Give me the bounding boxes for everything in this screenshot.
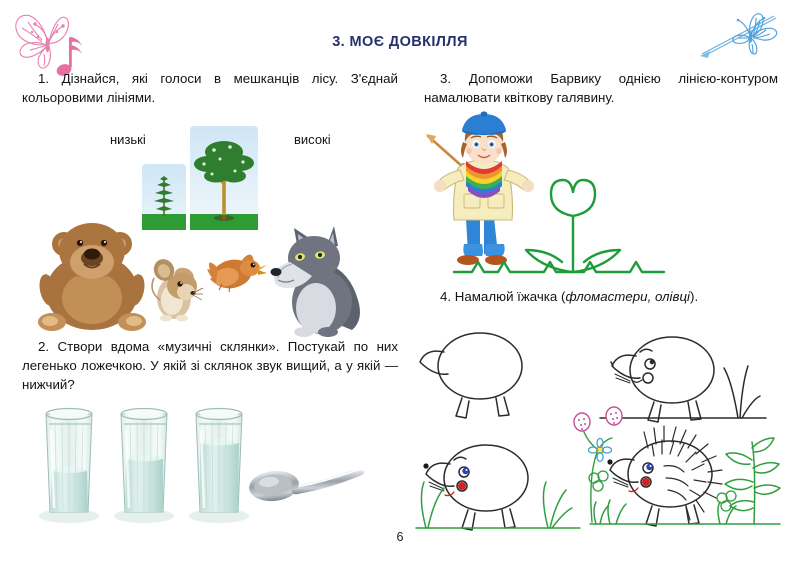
bird-icon [207, 254, 267, 292]
task-2-body: Створи вдома «музичні склянки». Постукай… [22, 339, 398, 392]
musical-glasses-illustration [36, 400, 376, 528]
forest-animals-illustration [30, 218, 380, 336]
glass-high-water [189, 409, 249, 524]
teaspoon-icon [248, 468, 365, 503]
task-1-body: Дізнайся, які голоси в мешканців лісу. З… [22, 71, 398, 105]
hedgehog-step-2 [600, 337, 766, 422]
task-4-number: 4. [440, 289, 451, 304]
hedgehog-step-1 [420, 333, 522, 418]
task-1-text: 1. Дізнайся, які голоси в мешканців лісу… [22, 70, 398, 108]
hedgehog-steps-illustration [414, 318, 786, 540]
page-number: 6 [0, 530, 800, 544]
barvyk-illustration [424, 112, 684, 280]
page-title: 3. МОЄ ДОВКІЛЛЯ [0, 34, 800, 50]
task-2-number: 2. [38, 339, 49, 354]
mouse-icon [150, 256, 203, 322]
bear-icon [37, 223, 147, 331]
task-3-number: 3. [440, 71, 451, 86]
wolf-icon [271, 226, 361, 337]
task-3-text: 3. Допоможи Барвику однією лінією-контур… [424, 70, 778, 108]
glass-low-water [39, 409, 99, 524]
workbook-page: 3. МОЄ ДОВКІЛЛЯ 1. Дізнайся, які голоси … [0, 0, 800, 562]
hedgehog-step-3 [426, 445, 528, 530]
task-4-body: Намалюй їжачка ( [455, 289, 566, 304]
hedgehog-step-4 [610, 426, 722, 526]
task-3-body: Допоможи Барвику однією лінією-контуром … [424, 71, 778, 105]
task-4-tail: ). [690, 289, 698, 304]
label-high-sounds: високі [294, 132, 331, 147]
task-4-text: 4. Намалюй їжачка (фломастери, олівці). [424, 288, 778, 307]
glass-medium-water [114, 409, 174, 524]
task-2-text: 2. Створи вдома «музичні склянки». Посту… [22, 338, 398, 395]
task-4-tools: фломастери, олівці [565, 289, 690, 304]
task-1-number: 1. [38, 71, 49, 86]
